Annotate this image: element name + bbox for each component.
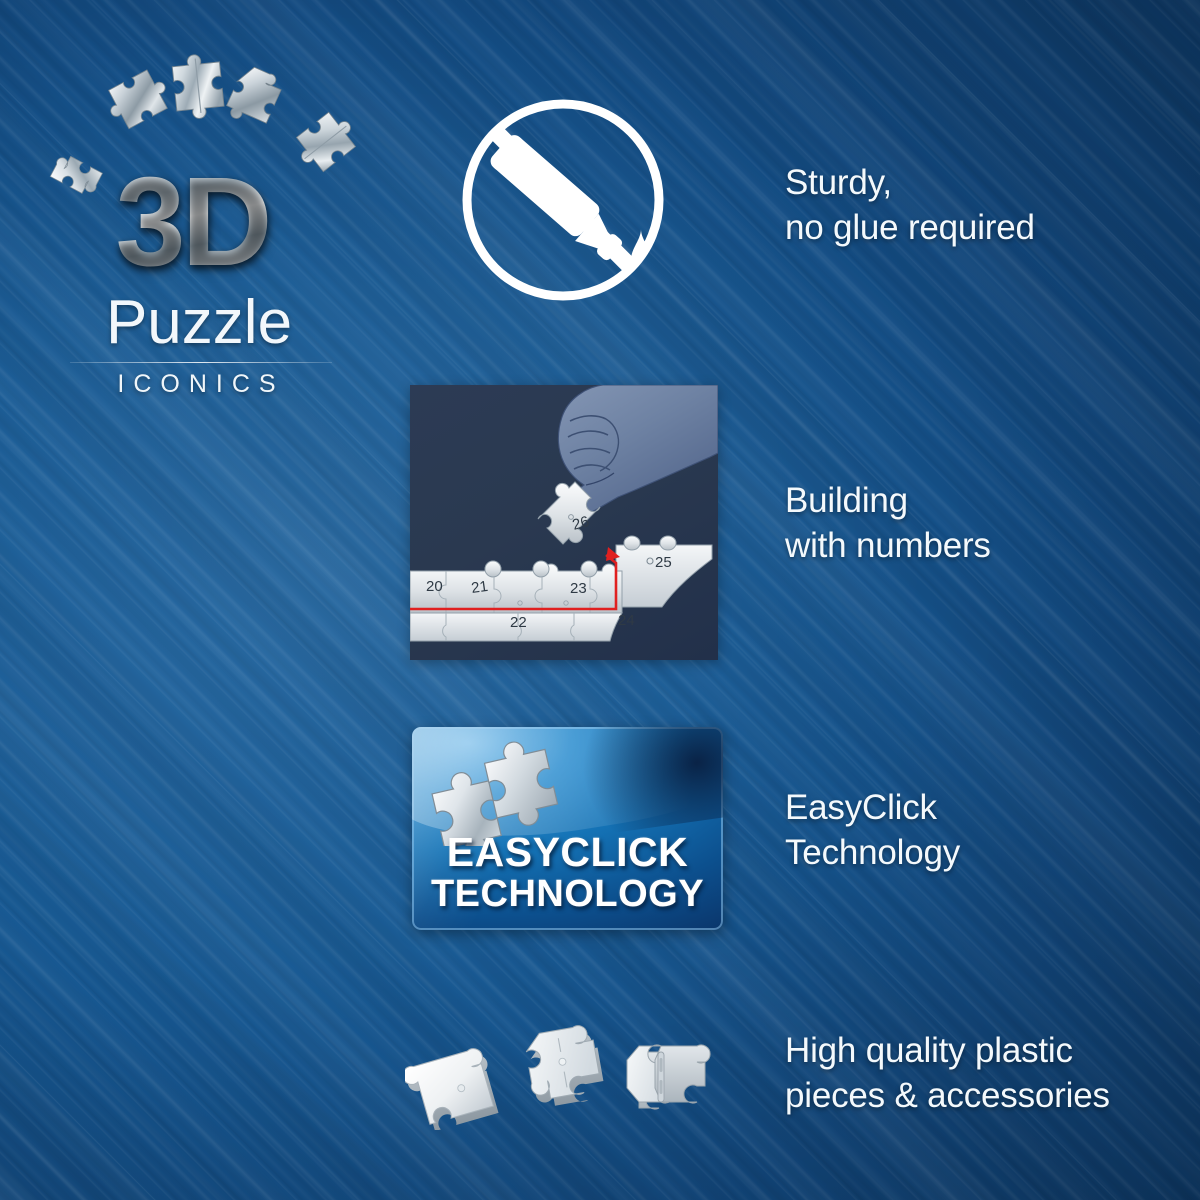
feature-label-line: High quality plastic [785,1028,1110,1073]
feature-label-no-glue: Sturdy, no glue required [785,160,1035,250]
feature-label-line: with numbers [785,523,991,568]
feature-label-building-with-numbers: Building with numbers [785,478,991,568]
easyclick-line1: EASYCLICK [412,829,723,876]
no-glue-bottle-icon [455,95,675,315]
assembled-hull: 25 20 21 22 23 24 [410,536,712,641]
svg-text:21: 21 [470,578,489,597]
hand-placing-numbered-puzzle-piece-image: 26 25 2 [410,385,718,660]
feature-label-line: Building [785,478,991,523]
three-plastic-puzzle-pieces-icon [405,1000,735,1130]
feature-label-line: no glue required [785,205,1035,250]
feature-label-line: Sturdy, [785,160,1035,205]
feature-label-line: EasyClick [785,785,960,830]
logo-iconics-text: ICONICS [64,370,338,399]
svg-text:23: 23 [570,580,587,597]
plastic-piece-bent [627,1045,710,1109]
plastic-piece-flat [405,1046,501,1130]
feature-label-easyclick: EasyClick Technology [785,785,960,875]
feature-label-line: pieces & accessories [785,1073,1110,1118]
feature-label-line: Technology [785,830,960,875]
brand-logo: 3D Puzzle ICONICS [34,42,374,387]
svg-text:20: 20 [426,578,443,595]
logo-puzzle-text: Puzzle [64,292,334,354]
svg-text:25: 25 [655,554,672,571]
easyclick-line2: TECHNOLOGY [412,873,723,916]
logo-3d-text: 3D [42,154,342,289]
easyclick-technology-badge: EASYCLICK TECHNOLOGY [412,727,723,930]
promo-graphic: 3D Puzzle ICONICS [0,0,1200,1200]
svg-text:24: 24 [618,612,635,629]
logo-divider [70,362,332,363]
feature-label-plastic-pieces: High quality plastic pieces & accessorie… [785,1028,1110,1118]
svg-text:22: 22 [510,614,527,631]
plastic-piece-curved [522,1023,606,1110]
